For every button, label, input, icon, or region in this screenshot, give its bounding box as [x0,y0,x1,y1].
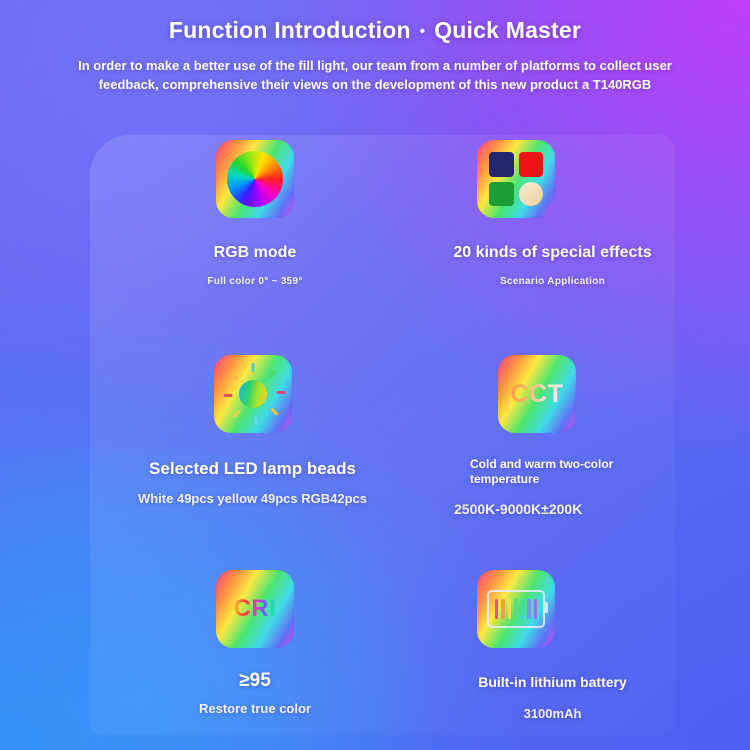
cri-icon: CRI [216,570,294,648]
battery-bar [514,599,518,619]
battery-bar [527,599,531,619]
page-title: Function Introduction•Quick Master [0,0,750,44]
sun-brightness-icon [214,355,292,433]
feature-battery[interactable]: Built-in lithium battery 3100mAh [425,570,680,722]
feature-subtitle: Full color 0° ~ 359° [150,274,360,290]
feature-title: Selected LED lamp beads [125,460,380,477]
cct-icon-label: CCT [511,380,564,409]
feature-rgb-mode[interactable]: RGB mode Full color 0° ~ 359° [150,140,360,290]
battery-glyph [487,590,545,628]
sun-ray [254,416,257,425]
feature-subtitle: 3100mAh [425,706,680,722]
feature-subtitle: 2500K-9000K±200K [420,501,685,517]
feature-title: RGB mode [150,244,360,261]
sun-ray [230,372,238,380]
battery-bar [495,599,499,619]
page-title-right: Quick Master [434,17,581,43]
color-wheel-icon [216,140,294,218]
sun-core [239,380,267,408]
feature-color-rendering-index[interactable]: CRI ≥95 Restore true color [150,570,360,717]
sun-ray [276,391,285,394]
feature-color-temperature[interactable]: CCT Cold and warm two-color temperature … [420,355,685,517]
feature-row-2: Selected LED lamp beads White 49pcs yell… [0,355,750,570]
swatch-cream-circle [519,182,544,207]
swatch-grid [489,152,543,206]
feature-title: ≥95 [150,672,360,689]
feature-title: 20 kinds of special effects [425,244,680,261]
feature-subtitle: Scenario Application [425,274,680,290]
feature-row-1: RGB mode Full color 0° ~ 359° 20 kinds o… [0,140,750,355]
feature-grid: RGB mode Full color 0° ~ 359° 20 kinds o… [0,140,750,750]
feature-subtitle: Restore true color [150,701,360,717]
feature-subtitle: White 49pcs yellow 49pcs RGB42pcs [125,491,380,507]
battery-bar [508,599,512,619]
battery-bar [534,599,538,619]
feature-title: Built-in lithium battery [425,674,680,691]
battery-bar [501,599,505,619]
effects-swatch-grid-icon [477,140,555,218]
swatch-red [519,152,544,177]
feature-led-lamp-beads[interactable]: Selected LED lamp beads White 49pcs yell… [125,355,380,507]
cri-icon-label: CRI [234,595,277,623]
swatch-navy [489,152,514,177]
sun-ray [267,370,275,378]
swatch-green [489,182,514,207]
sun-ray [251,363,254,372]
sun-glyph [222,363,284,425]
battery-bar [521,599,525,619]
color-wheel-glyph [227,151,283,207]
page-subtitle: In order to make a better use of the fil… [75,56,675,94]
page-title-left: Function Introduction [169,17,411,43]
sun-ray [270,407,278,415]
cct-icon: CCT [498,355,576,433]
sun-ray [223,394,232,397]
feature-special-effects[interactable]: 20 kinds of special effects Scenario App… [425,140,680,290]
feature-row-3: CRI ≥95 Restore true color [0,570,750,750]
title-separator-dot: • [420,23,425,40]
sun-ray [232,410,240,418]
product-infographic: Function Introduction•Quick Master In or… [0,0,750,750]
battery-icon [477,570,555,648]
feature-title: Cold and warm two-color temperature [420,457,685,487]
